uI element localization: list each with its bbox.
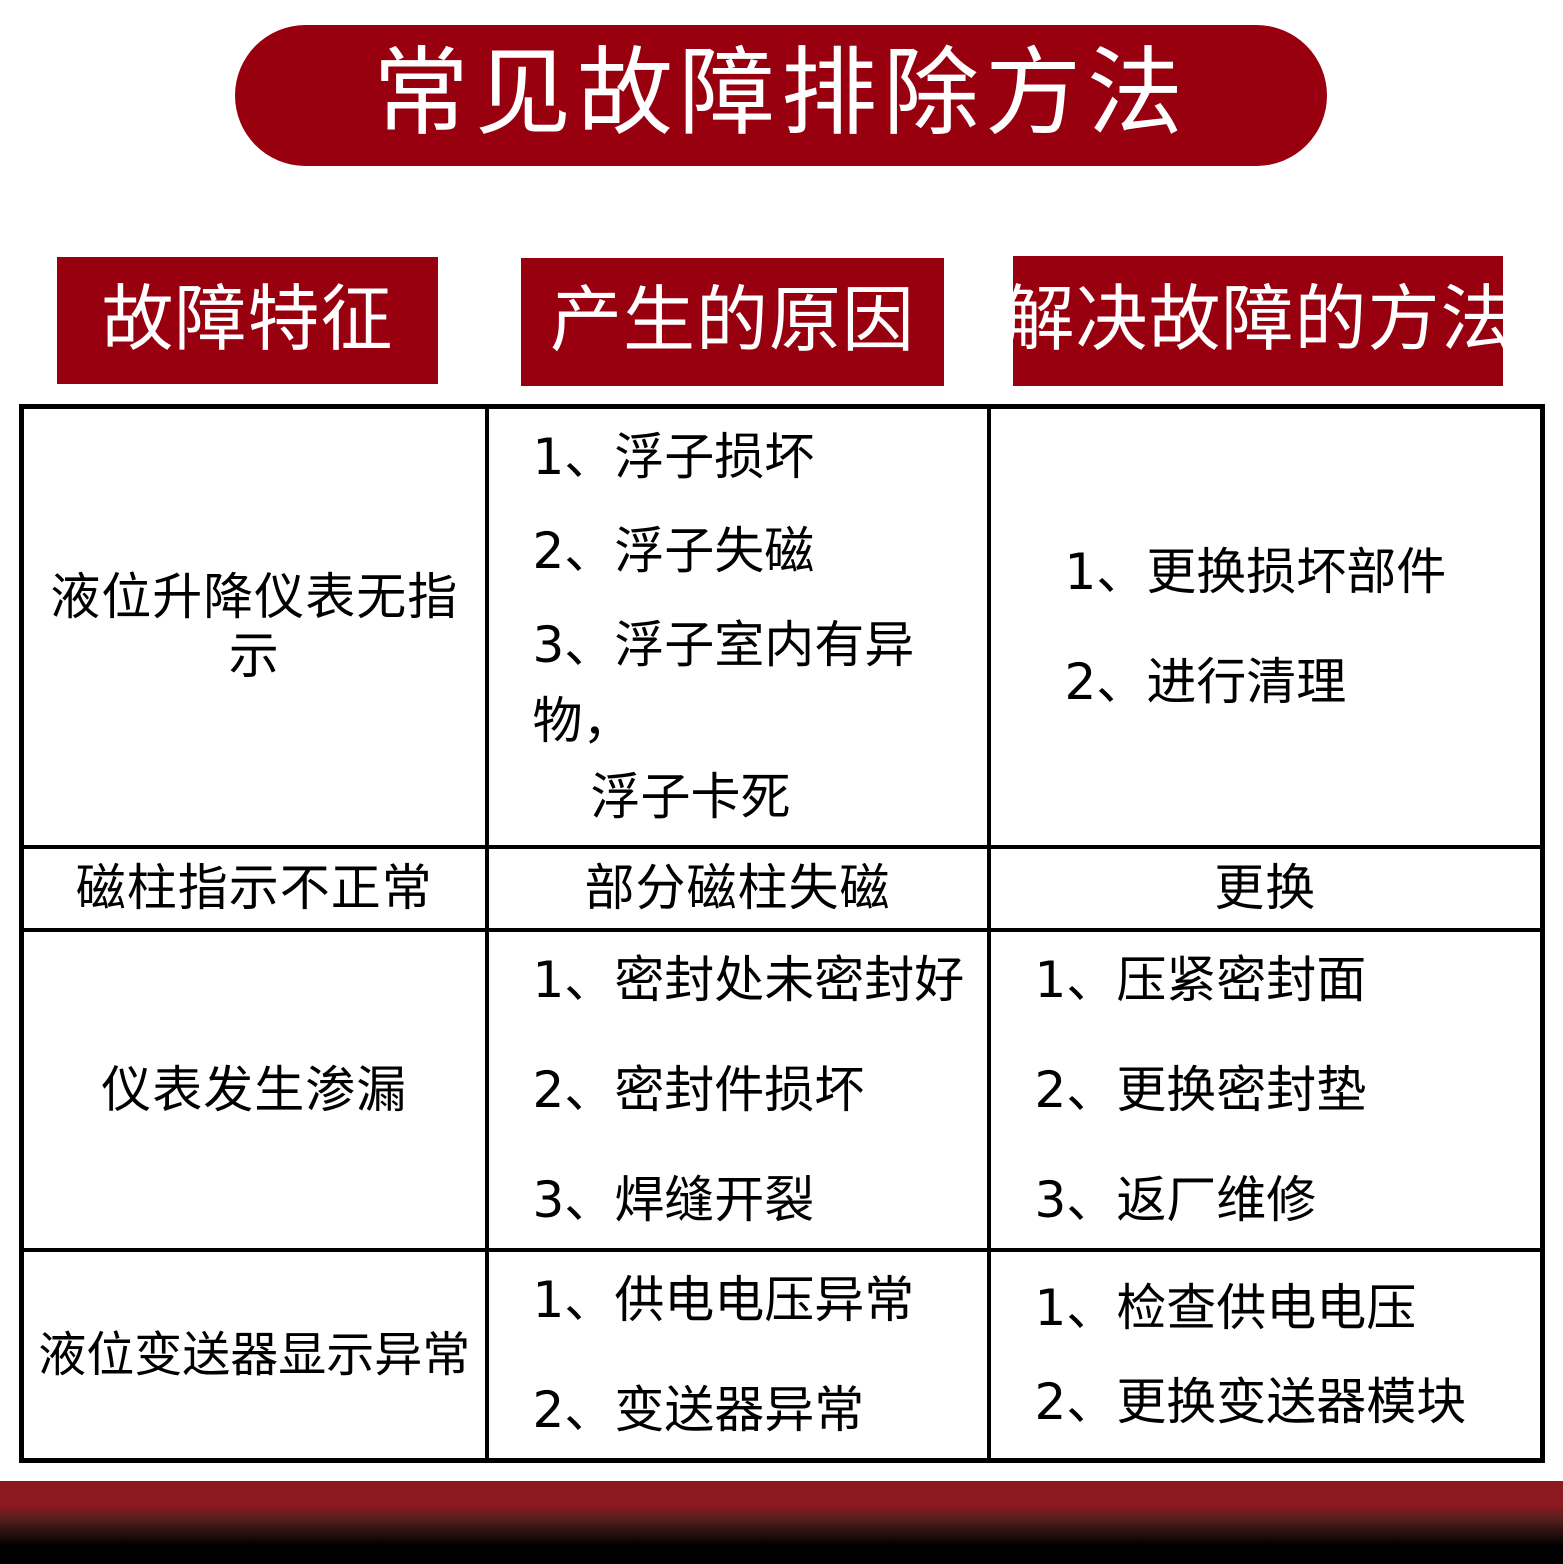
list-item: 2、密封件损坏 [533, 1052, 973, 1128]
fault-feature-text: 磁柱指示不正常 [24, 849, 485, 928]
footer-gradient-bar [0, 1481, 1563, 1564]
table-row: 液位变送器显示异常 1、供电电压异常 2、变送器异常 1、检查供电电压 2、更换… [22, 1250, 1543, 1461]
cause-list: 1、密封处未密封好 2、密封件损坏 3、焊缝开裂 [503, 942, 973, 1238]
list-text: 焊缝开裂 [614, 1171, 814, 1229]
list-index: 1、 [533, 1262, 615, 1338]
column-header-label: 故障特征 [101, 283, 393, 359]
list-item: 2、更换密封垫 [1035, 1052, 1527, 1128]
list-item: 1、浮子损坏 [533, 419, 973, 495]
list-text: 浮子损坏 [614, 428, 814, 486]
list-item: 3、返厂维修 [1035, 1162, 1527, 1238]
page-title-banner: 常见故障排除方法 [235, 25, 1327, 166]
cell-fault-feature: 磁柱指示不正常 [22, 847, 487, 930]
list-index: 2、 [1035, 1364, 1117, 1440]
list-index: 3、 [1035, 1162, 1117, 1238]
cell-solution: 1、压紧密封面 2、更换密封垫 3、返厂维修 [989, 930, 1543, 1250]
list-index: 2、 [1035, 1052, 1117, 1128]
cell-cause: 1、供电电压异常 2、变送器异常 [487, 1250, 989, 1461]
column-header-label: 解决故障的方法 [1003, 283, 1514, 359]
list-text: 更换密封垫 [1116, 1061, 1366, 1119]
cell-fault-feature: 液位变送器显示异常 [22, 1250, 487, 1461]
list-text: 检查供电电压 [1116, 1279, 1416, 1337]
table-row: 液位升降仪表无指示 1、浮子损坏 2、浮子失磁 3、浮子室内有异物，浮子卡死 1… [22, 407, 1543, 848]
list-item: 2、进行清理 [1065, 644, 1527, 720]
list-index: 1、 [533, 942, 615, 1018]
list-item: 2、更换变送器模块 [1035, 1364, 1527, 1440]
list-text: 变送器异常 [614, 1381, 864, 1439]
cell-solution: 1、检查供电电压 2、更换变送器模块 [989, 1250, 1543, 1461]
list-text: 密封处未密封好 [614, 951, 964, 1009]
cell-cause: 1、密封处未密封好 2、密封件损坏 3、焊缝开裂 [487, 930, 989, 1250]
list-text: 进行清理 [1146, 653, 1346, 711]
fault-feature-text: 仪表发生渗漏 [24, 1051, 485, 1130]
list-text: 更换损坏部件 [1146, 543, 1446, 601]
cause-text: 部分磁柱失磁 [489, 849, 987, 928]
cell-cause: 1、浮子损坏 2、浮子失磁 3、浮子室内有异物，浮子卡死 [487, 407, 989, 848]
cell-cause: 部分磁柱失磁 [487, 847, 989, 930]
list-index: 1、 [533, 419, 615, 495]
list-index: 1、 [1035, 942, 1117, 1018]
list-item: 3、浮子室内有异物，浮子卡死 [533, 607, 973, 835]
table-row: 磁柱指示不正常 部分磁柱失磁 更换 [22, 847, 1543, 930]
list-item: 2、浮子失磁 [533, 513, 973, 589]
cell-solution: 更换 [989, 847, 1543, 930]
column-header-solution: 解决故障的方法 [1013, 256, 1503, 386]
cell-solution: 1、更换损坏部件 2、进行清理 [989, 407, 1543, 848]
list-item: 1、供电电压异常 [533, 1262, 973, 1338]
cause-list: 1、供电电压异常 2、变送器异常 [503, 1262, 973, 1448]
list-index: 3、 [533, 1162, 615, 1238]
list-item: 1、更换损坏部件 [1065, 534, 1527, 610]
list-text: 供电电压异常 [614, 1271, 914, 1329]
page-title: 常见故障排除方法 [373, 45, 1189, 147]
list-item: 2、变送器异常 [533, 1372, 973, 1448]
solution-list: 1、检查供电电压 2、更换变送器模块 [1005, 1270, 1527, 1440]
list-text: 密封件损坏 [614, 1061, 864, 1119]
column-header-cause: 产生的原因 [521, 258, 944, 386]
cell-fault-feature: 仪表发生渗漏 [22, 930, 487, 1250]
list-index: 1、 [1035, 1270, 1117, 1346]
list-item: 1、检查供电电压 [1035, 1270, 1527, 1346]
fault-feature-text: 液位变送器显示异常 [24, 1317, 485, 1394]
list-text: 压紧密封面 [1116, 951, 1366, 1009]
list-item: 1、密封处未密封好 [533, 942, 973, 1018]
cause-list: 1、浮子损坏 2、浮子失磁 3、浮子室内有异物，浮子卡死 [503, 419, 973, 835]
list-index: 2、 [533, 1052, 615, 1128]
list-index: 2、 [533, 513, 615, 589]
cell-fault-feature: 液位升降仪表无指示 [22, 407, 487, 848]
solution-list: 1、压紧密封面 2、更换密封垫 3、返厂维修 [1005, 942, 1527, 1238]
list-index: 2、 [533, 1372, 615, 1448]
troubleshooting-table: 液位升降仪表无指示 1、浮子损坏 2、浮子失磁 3、浮子室内有异物，浮子卡死 1… [19, 404, 1545, 1463]
list-text: 更换变送器模块 [1116, 1373, 1466, 1431]
column-header-fault-feature: 故障特征 [57, 257, 438, 384]
table-row: 仪表发生渗漏 1、密封处未密封好 2、密封件损坏 3、焊缝开裂 1、压紧密封面 … [22, 930, 1543, 1250]
solution-text: 更换 [991, 849, 1541, 928]
list-text-continuation: 浮子卡死 [533, 759, 973, 835]
list-text: 浮子失磁 [614, 522, 814, 580]
list-item: 3、焊缝开裂 [533, 1162, 973, 1238]
list-text: 返厂维修 [1116, 1171, 1316, 1229]
column-header-label: 产生的原因 [550, 284, 915, 360]
fault-feature-text: 液位升降仪表无指示 [24, 558, 485, 696]
solution-list: 1、更换损坏部件 2、进行清理 [1005, 534, 1527, 720]
list-item: 1、压紧密封面 [1035, 942, 1527, 1018]
list-index: 3、 [533, 607, 615, 683]
list-index: 2、 [1065, 644, 1147, 720]
list-index: 1、 [1065, 534, 1147, 610]
